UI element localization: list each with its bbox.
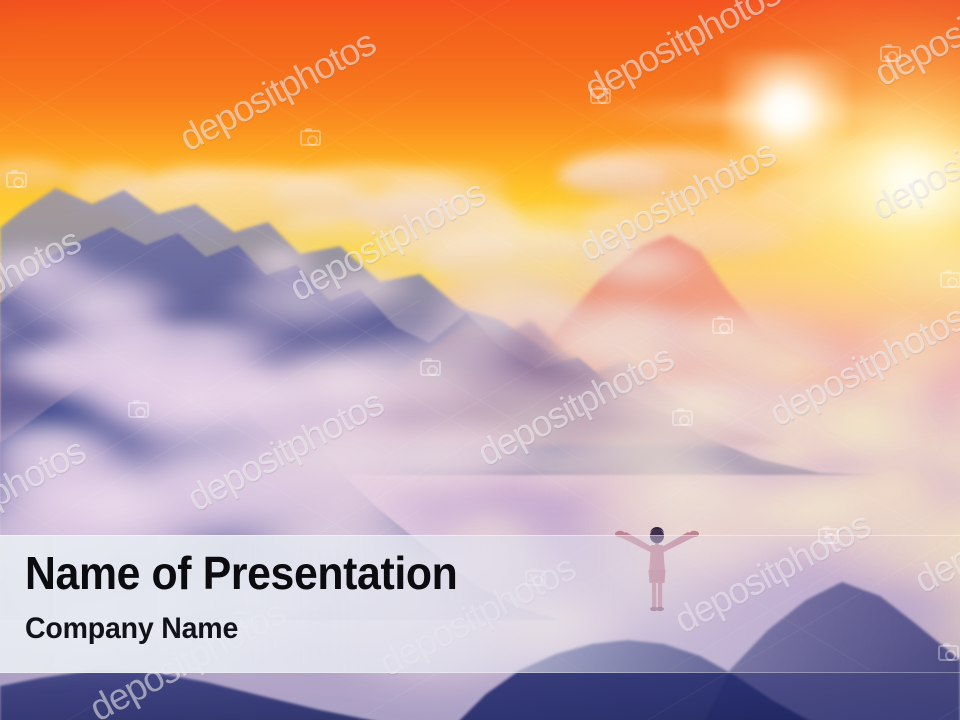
- watermark-text: depositphotos: [0, 220, 87, 358]
- watermark-text: depositphotos: [763, 297, 960, 435]
- company-name-label: Company Name: [25, 614, 238, 644]
- watermark-text: depositphotos: [865, 90, 960, 228]
- camera-icon: [128, 402, 149, 418]
- camera-icon: [940, 272, 960, 288]
- caption-text-block: Name of Presentation Company Name: [25, 536, 725, 674]
- camera-icon: [6, 172, 27, 188]
- watermark-text: depositphotos: [173, 22, 382, 160]
- watermark-text: depositphotos: [471, 337, 680, 475]
- camera-icon: [712, 318, 733, 334]
- slide-canvas: depositphotosdepositphotosdepositphotosd…: [0, 0, 960, 720]
- camera-icon: [880, 46, 901, 62]
- page-title: Name of Presentation: [25, 550, 457, 596]
- watermark-text: depositphotos: [283, 172, 492, 310]
- watermark-text: depositphotos: [573, 132, 782, 270]
- watermark-text: depositphotos: [181, 382, 390, 520]
- camera-icon: [300, 130, 321, 146]
- camera-icon: [420, 360, 441, 376]
- camera-icon: [590, 88, 611, 104]
- caption-bar: Name of Presentation Company Name: [0, 535, 960, 673]
- camera-icon: [672, 410, 693, 426]
